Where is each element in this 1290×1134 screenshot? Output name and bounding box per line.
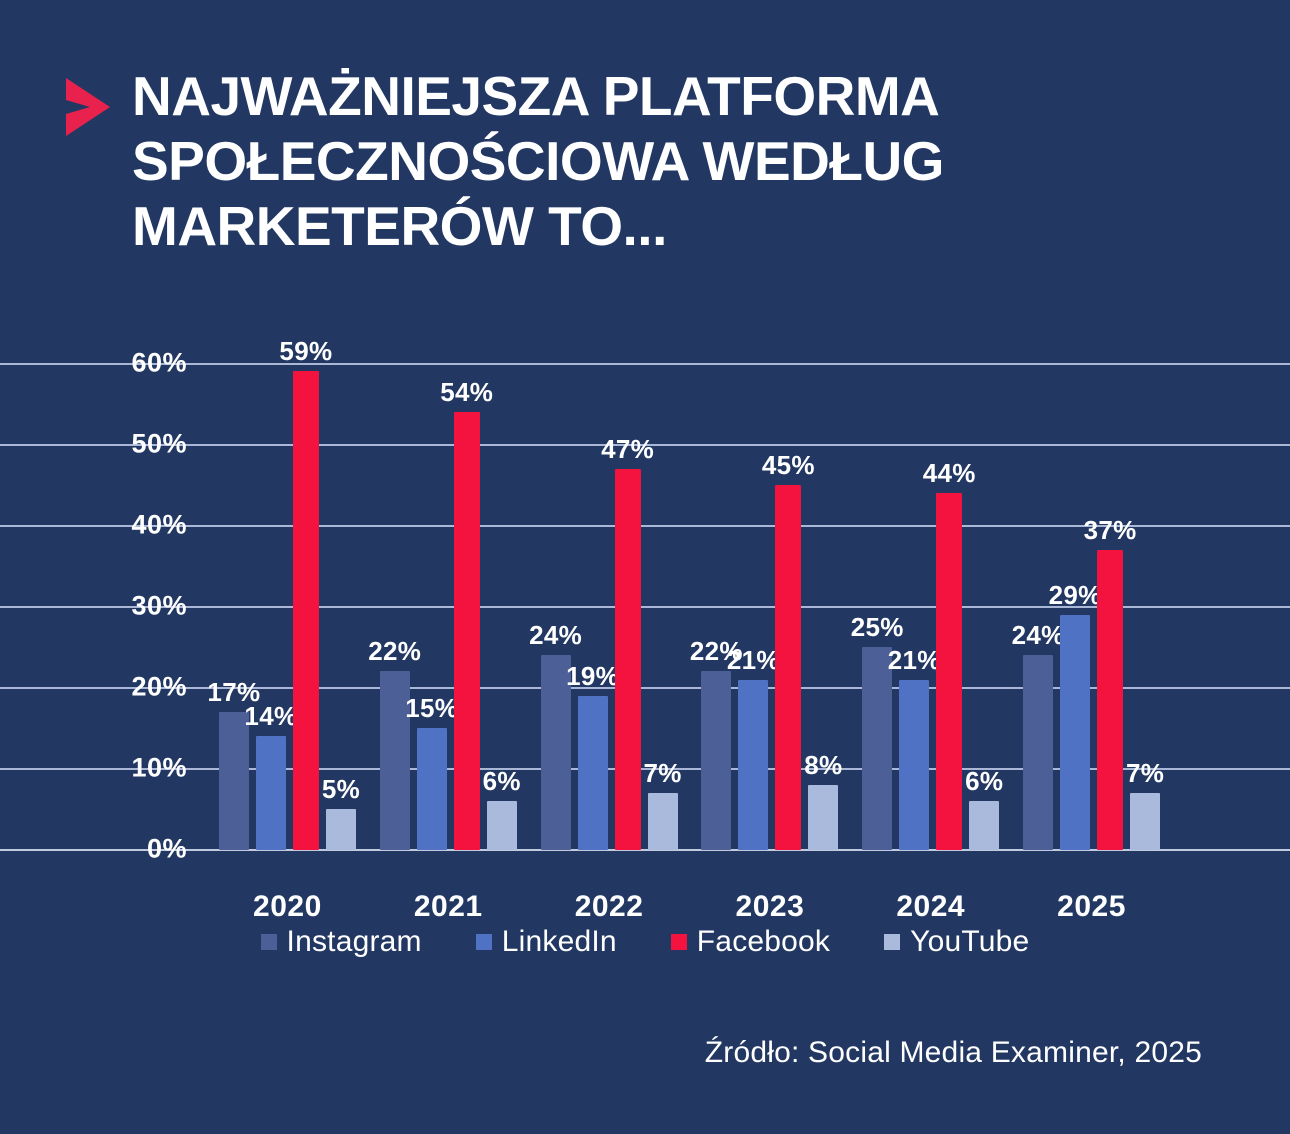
y-tick-label: 30% bbox=[131, 591, 187, 622]
chart-legend: InstagramLinkedInFacebookYouTube bbox=[0, 925, 1290, 959]
source-note: Źródło: Social Media Examiner, 2025 bbox=[705, 1036, 1202, 1070]
legend-label: LinkedIn bbox=[502, 925, 617, 959]
bar-value-label: 14% bbox=[244, 701, 297, 732]
bar-instagram-2023[interactable]: 22% bbox=[701, 671, 731, 850]
bar-facebook-2021[interactable]: 54% bbox=[454, 412, 480, 850]
y-tick-label: 60% bbox=[131, 348, 187, 379]
bar-value-label: 47% bbox=[601, 434, 654, 465]
bar-value-label: 7% bbox=[1126, 758, 1164, 789]
bar-instagram-2020[interactable]: 17% bbox=[219, 712, 249, 850]
legend-swatch-icon bbox=[261, 934, 277, 950]
page-title: NAJWAŻNIEJSZA PLATFORMA SPOŁECZNOŚCIOWA … bbox=[132, 64, 1142, 259]
legend-item-linkedin[interactable]: LinkedIn bbox=[476, 925, 617, 959]
legend-swatch-icon bbox=[671, 934, 687, 950]
bar-value-label: 5% bbox=[322, 774, 360, 805]
bar-value-label: 7% bbox=[643, 758, 681, 789]
bar-linkedin-2020[interactable]: 14% bbox=[256, 736, 286, 850]
bar-chart: 60% 50% 40% 30% 20% 10% 0% 17%14%59%5%22… bbox=[0, 330, 1290, 890]
legend-swatch-icon bbox=[476, 934, 492, 950]
bar-value-label: 8% bbox=[804, 750, 842, 781]
bar-linkedin-2023[interactable]: 21% bbox=[738, 680, 768, 850]
bar-value-label: 24% bbox=[529, 620, 582, 651]
page-header: NAJWAŻNIEJSZA PLATFORMA SPOŁECZNOŚCIOWA … bbox=[0, 0, 1290, 259]
bar-facebook-2022[interactable]: 47% bbox=[615, 469, 641, 850]
x-tick-label: 2020 bbox=[207, 890, 368, 924]
bar-value-label: 6% bbox=[483, 766, 521, 797]
x-tick-label: 2024 bbox=[850, 890, 1011, 924]
bar-groups: 17%14%59%5%22%15%54%6%24%19%47%7%22%21%4… bbox=[207, 363, 1172, 850]
bar-linkedin-2024[interactable]: 21% bbox=[899, 680, 929, 850]
bar-value-label: 21% bbox=[727, 645, 780, 676]
bar-value-label: 19% bbox=[566, 661, 619, 692]
legend-label: Instagram bbox=[287, 925, 422, 959]
legend-swatch-icon bbox=[884, 934, 900, 950]
bar-group-2022: 24%19%47%7% bbox=[529, 363, 690, 850]
bar-linkedin-2022[interactable]: 19% bbox=[578, 696, 608, 850]
x-axis: 2020 2021 2022 2023 2024 2025 bbox=[207, 890, 1172, 924]
legend-label: YouTube bbox=[910, 925, 1029, 959]
bar-facebook-2023[interactable]: 45% bbox=[775, 485, 801, 850]
legend-item-instagram[interactable]: Instagram bbox=[261, 925, 422, 959]
y-tick-label: 20% bbox=[131, 672, 187, 703]
bar-value-label: 44% bbox=[923, 458, 976, 489]
bar-youtube-2023[interactable]: 8% bbox=[808, 785, 838, 850]
bar-linkedin-2025[interactable]: 29% bbox=[1060, 615, 1090, 850]
bar-facebook-2025[interactable]: 37% bbox=[1097, 550, 1123, 850]
x-tick-label: 2022 bbox=[529, 890, 690, 924]
bar-group-2023: 22%21%45%8% bbox=[689, 363, 850, 850]
bar-value-label: 45% bbox=[762, 450, 815, 481]
x-tick-label: 2025 bbox=[1011, 890, 1172, 924]
x-tick-label: 2023 bbox=[689, 890, 850, 924]
y-tick-label: 10% bbox=[131, 753, 187, 784]
bar-value-label: 54% bbox=[440, 377, 493, 408]
bar-group-2020: 17%14%59%5% bbox=[207, 363, 368, 850]
bar-youtube-2025[interactable]: 7% bbox=[1130, 793, 1160, 850]
bar-group-2024: 25%21%44%6% bbox=[850, 363, 1011, 850]
bar-youtube-2022[interactable]: 7% bbox=[648, 793, 678, 850]
y-tick-label: 40% bbox=[131, 510, 187, 541]
bar-value-label: 29% bbox=[1049, 580, 1102, 611]
legend-item-facebook[interactable]: Facebook bbox=[671, 925, 830, 959]
bar-youtube-2021[interactable]: 6% bbox=[487, 801, 517, 850]
x-tick-label: 2021 bbox=[368, 890, 529, 924]
bar-youtube-2020[interactable]: 5% bbox=[326, 809, 356, 850]
bar-group-2021: 22%15%54%6% bbox=[368, 363, 529, 850]
chevron-right-icon bbox=[62, 76, 118, 138]
bar-linkedin-2021[interactable]: 15% bbox=[417, 728, 447, 850]
bar-value-label: 15% bbox=[405, 693, 458, 724]
legend-label: Facebook bbox=[697, 925, 830, 959]
bar-value-label: 25% bbox=[851, 612, 904, 643]
bar-value-label: 6% bbox=[965, 766, 1003, 797]
legend-item-youtube[interactable]: YouTube bbox=[884, 925, 1029, 959]
bar-facebook-2024[interactable]: 44% bbox=[936, 493, 962, 850]
bar-instagram-2025[interactable]: 24% bbox=[1023, 655, 1053, 850]
bar-group-2025: 24%29%37%7% bbox=[1011, 363, 1172, 850]
y-tick-label: 0% bbox=[147, 834, 187, 865]
y-tick-label: 50% bbox=[131, 429, 187, 460]
bar-facebook-2020[interactable]: 59% bbox=[293, 371, 319, 850]
bar-value-label: 21% bbox=[888, 645, 941, 676]
bar-value-label: 24% bbox=[1012, 620, 1065, 651]
bar-value-label: 22% bbox=[368, 636, 421, 667]
bar-instagram-2024[interactable]: 25% bbox=[862, 647, 892, 850]
bar-value-label: 59% bbox=[279, 336, 332, 367]
bar-youtube-2024[interactable]: 6% bbox=[969, 801, 999, 850]
bar-value-label: 37% bbox=[1084, 515, 1137, 546]
